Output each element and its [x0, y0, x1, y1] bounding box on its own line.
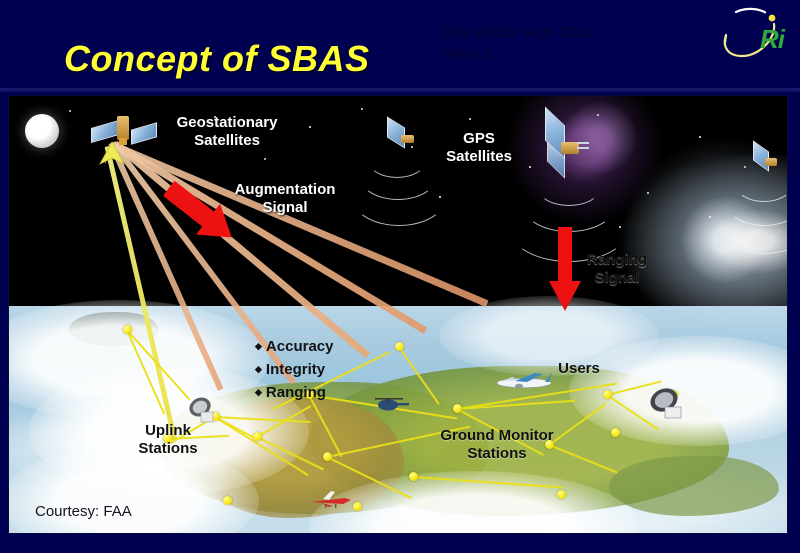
network-node [353, 502, 362, 511]
network-node [253, 432, 262, 441]
label-uplink-stations: Uplink Stations [113, 422, 223, 458]
network-node [323, 452, 332, 461]
label-ranging-signal: Ranging Signal [567, 251, 667, 287]
slide-meta: ION GNSS Sept. 2012 Slide 3 [443, 22, 595, 66]
satellite-dish-icon [647, 388, 687, 424]
label-ground-monitor-stations: Ground Monitor Stations [417, 427, 577, 463]
bullet-accuracy: Accuracy [255, 336, 333, 359]
network-node [453, 404, 462, 413]
sbas-concept-figure: Geostationary Satellites GPS Satellites … [8, 95, 788, 534]
orbit-dot-icon [769, 15, 776, 22]
label-gps-satellites: GPS Satellites [419, 130, 539, 166]
bullet-integrity: Integrity [255, 359, 333, 382]
label-users: Users [539, 360, 619, 378]
network-node [557, 490, 566, 499]
network-node [409, 472, 418, 481]
bullet-ranging: Ranging [255, 382, 333, 405]
meta-conference: ION GNSS Sept. 2012 [443, 22, 595, 44]
small-plane-icon [309, 488, 353, 510]
brand-logo: Ri [716, 4, 786, 66]
sbas-benefits-list: Accuracy Integrity Ranging [255, 336, 333, 405]
network-node [603, 390, 612, 399]
label-geostationary-satellites: Geostationary Satellites [157, 114, 297, 150]
helicopter-icon [371, 392, 411, 414]
gps-satellite-icon [541, 116, 589, 170]
meta-slide-number: Slide 3 [443, 44, 595, 66]
network-node [223, 496, 232, 505]
geostationary-satellite-icon [91, 114, 155, 150]
header-divider [0, 88, 800, 93]
network-node [395, 342, 404, 351]
network-node [123, 325, 132, 334]
network-node [611, 428, 620, 437]
moon-icon [25, 114, 59, 148]
label-augmentation-signal: Augmentation Signal [215, 181, 355, 217]
slide-canvas: Concept of SBAS ION GNSS Sept. 2012 Slid… [0, 0, 800, 553]
slide-header: Concept of SBAS ION GNSS Sept. 2012 Slid… [0, 0, 800, 92]
courtesy-credit: Courtesy: FAA [35, 503, 132, 521]
page-title: Concept of SBAS [64, 38, 370, 80]
logo-text: Ri [760, 24, 784, 55]
